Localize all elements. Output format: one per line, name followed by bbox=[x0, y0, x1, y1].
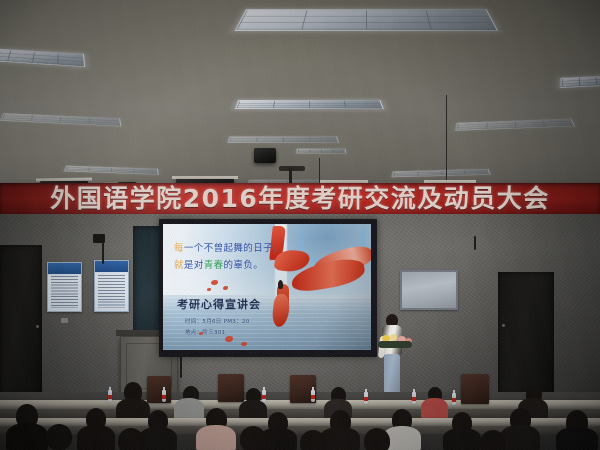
flower-bloom bbox=[390, 334, 397, 341]
audience-head-front bbox=[300, 430, 326, 450]
ceiling-light-panel bbox=[296, 149, 347, 154]
audience-head-front bbox=[364, 428, 390, 450]
audience-head-front bbox=[480, 430, 506, 450]
bottle-cap bbox=[263, 387, 265, 390]
projector-ceiling-plate bbox=[279, 166, 305, 171]
light-diffuser-grid bbox=[298, 150, 344, 153]
chair[interactable] bbox=[461, 374, 489, 404]
slide-petal bbox=[207, 288, 211, 291]
audience-body bbox=[174, 398, 204, 420]
bottle-cap bbox=[365, 389, 367, 392]
chair[interactable] bbox=[147, 376, 171, 403]
audience-body bbox=[196, 425, 236, 450]
door-knob[interactable] bbox=[36, 325, 39, 328]
slide-quote-rest-2a: 是对 bbox=[184, 260, 204, 271]
audience-body bbox=[239, 400, 267, 420]
flower-foliage bbox=[378, 341, 412, 348]
light-diffuser-grid bbox=[237, 101, 382, 108]
bottle-label bbox=[311, 395, 315, 399]
slide-petal bbox=[211, 280, 218, 285]
bottle-cap bbox=[453, 390, 455, 393]
slide-petal bbox=[223, 286, 228, 290]
camera-cable bbox=[102, 242, 104, 264]
projection-screen: 每一个不曾起舞的日子， 就是对青春的辜负。 考研心得宣讲会 时间：5月6日 PM… bbox=[159, 219, 377, 357]
poster-header bbox=[48, 263, 81, 274]
ceiling-light-panel bbox=[234, 9, 498, 31]
light-diffuser-grid bbox=[393, 170, 488, 176]
bottle-label bbox=[162, 395, 166, 399]
slide-quote-line-2: 就是对青春的辜负。 bbox=[174, 257, 263, 271]
water-bottle[interactable] bbox=[412, 392, 416, 404]
classroom-door-left[interactable] bbox=[0, 245, 42, 395]
slide-quote-rest-2b: 的辜负。 bbox=[224, 260, 264, 271]
light-diffuser-grid bbox=[457, 120, 573, 130]
ceiling-speaker bbox=[254, 148, 276, 163]
notice-poster-right[interactable] bbox=[94, 260, 129, 312]
flower-bouquet bbox=[376, 334, 416, 350]
ceiling-light-panel bbox=[234, 100, 384, 109]
audience-body bbox=[421, 398, 448, 418]
slide-quote-rest-1: 一个不曾起舞的日子， bbox=[184, 243, 283, 254]
bottle-label bbox=[364, 397, 368, 401]
water-bottle[interactable] bbox=[364, 392, 368, 404]
audience-head-front bbox=[118, 428, 144, 450]
light-diffuser-grid bbox=[2, 114, 120, 125]
ceiling-light-panel bbox=[455, 119, 575, 131]
audience-body bbox=[556, 427, 598, 450]
audience-body bbox=[139, 427, 177, 450]
ceiling-light-panel bbox=[0, 48, 85, 67]
bottle-label bbox=[108, 395, 112, 399]
slide-quote-accent-char: 每 bbox=[174, 243, 184, 254]
water-bottle[interactable] bbox=[262, 390, 266, 402]
notice-poster-left[interactable] bbox=[47, 262, 82, 312]
light-diffuser-grid bbox=[0, 49, 83, 66]
audience-head-front bbox=[240, 426, 266, 450]
ceiling-light-panel bbox=[0, 113, 121, 126]
water-bottle[interactable] bbox=[108, 390, 112, 402]
audience-body bbox=[443, 428, 481, 450]
ceiling-light-panel bbox=[227, 136, 339, 143]
wall-whiteboard bbox=[400, 270, 458, 310]
poster-text-lines bbox=[51, 276, 78, 308]
bottle-cap bbox=[163, 387, 165, 390]
poster-text-lines bbox=[98, 275, 125, 308]
event-banner: 外国语学院2016年度考研交流及动员大会 bbox=[0, 183, 600, 216]
bottle-label bbox=[262, 395, 266, 399]
water-bottle[interactable] bbox=[452, 393, 456, 405]
water-bottle[interactable] bbox=[311, 390, 315, 402]
slide-meta-place: 地点：阶三301 bbox=[185, 328, 225, 336]
ceiling-light-panel bbox=[63, 165, 159, 174]
lecture-hall-photo: 外国语学院2016年度考研交流及动员大会 bbox=[0, 0, 600, 450]
wall-outlet bbox=[61, 318, 68, 323]
audience-body bbox=[6, 423, 48, 450]
audience-body bbox=[500, 425, 540, 450]
microphone-cable bbox=[446, 95, 447, 185]
bottle-cap bbox=[413, 389, 415, 392]
audience-body bbox=[320, 427, 360, 450]
bottle-label bbox=[452, 398, 456, 402]
wall-cable bbox=[474, 236, 476, 250]
ceiling-light-panel bbox=[560, 74, 600, 88]
slide-quote-accent-word: 青春 bbox=[204, 260, 224, 271]
slide-quote-accent-char: 就 bbox=[174, 260, 184, 271]
light-diffuser-grid bbox=[229, 137, 336, 142]
audience-body bbox=[77, 425, 115, 450]
audience-head-front bbox=[46, 424, 72, 450]
light-diffuser-grid bbox=[237, 10, 496, 29]
banner-title-text: 外国语学院2016年度考研交流及动员大会 bbox=[0, 184, 600, 214]
classroom-door-right[interactable] bbox=[498, 272, 554, 394]
water-bottle[interactable] bbox=[162, 390, 166, 402]
poster-header bbox=[95, 261, 128, 272]
slide-content: 每一个不曾起舞的日子， 就是对青春的辜负。 考研心得宣讲会 时间：5月6日 PM… bbox=[163, 224, 371, 350]
light-diffuser-grid bbox=[66, 167, 157, 174]
bottle-cap bbox=[109, 387, 111, 390]
slide-title: 考研心得宣讲会 bbox=[177, 296, 261, 312]
bottle-label bbox=[412, 397, 416, 401]
slide-dancer-figure bbox=[278, 280, 283, 289]
slide-quote-line-1: 每一个不曾起舞的日子， bbox=[174, 240, 283, 254]
slide-meta-time: 时间：5月6日 PM3：20 bbox=[185, 317, 250, 325]
ceiling-light-panel bbox=[391, 169, 491, 178]
bottle-cap bbox=[312, 387, 314, 390]
chair[interactable] bbox=[218, 374, 244, 402]
light-diffuser-grid bbox=[562, 76, 600, 87]
door-knob[interactable] bbox=[502, 324, 505, 327]
